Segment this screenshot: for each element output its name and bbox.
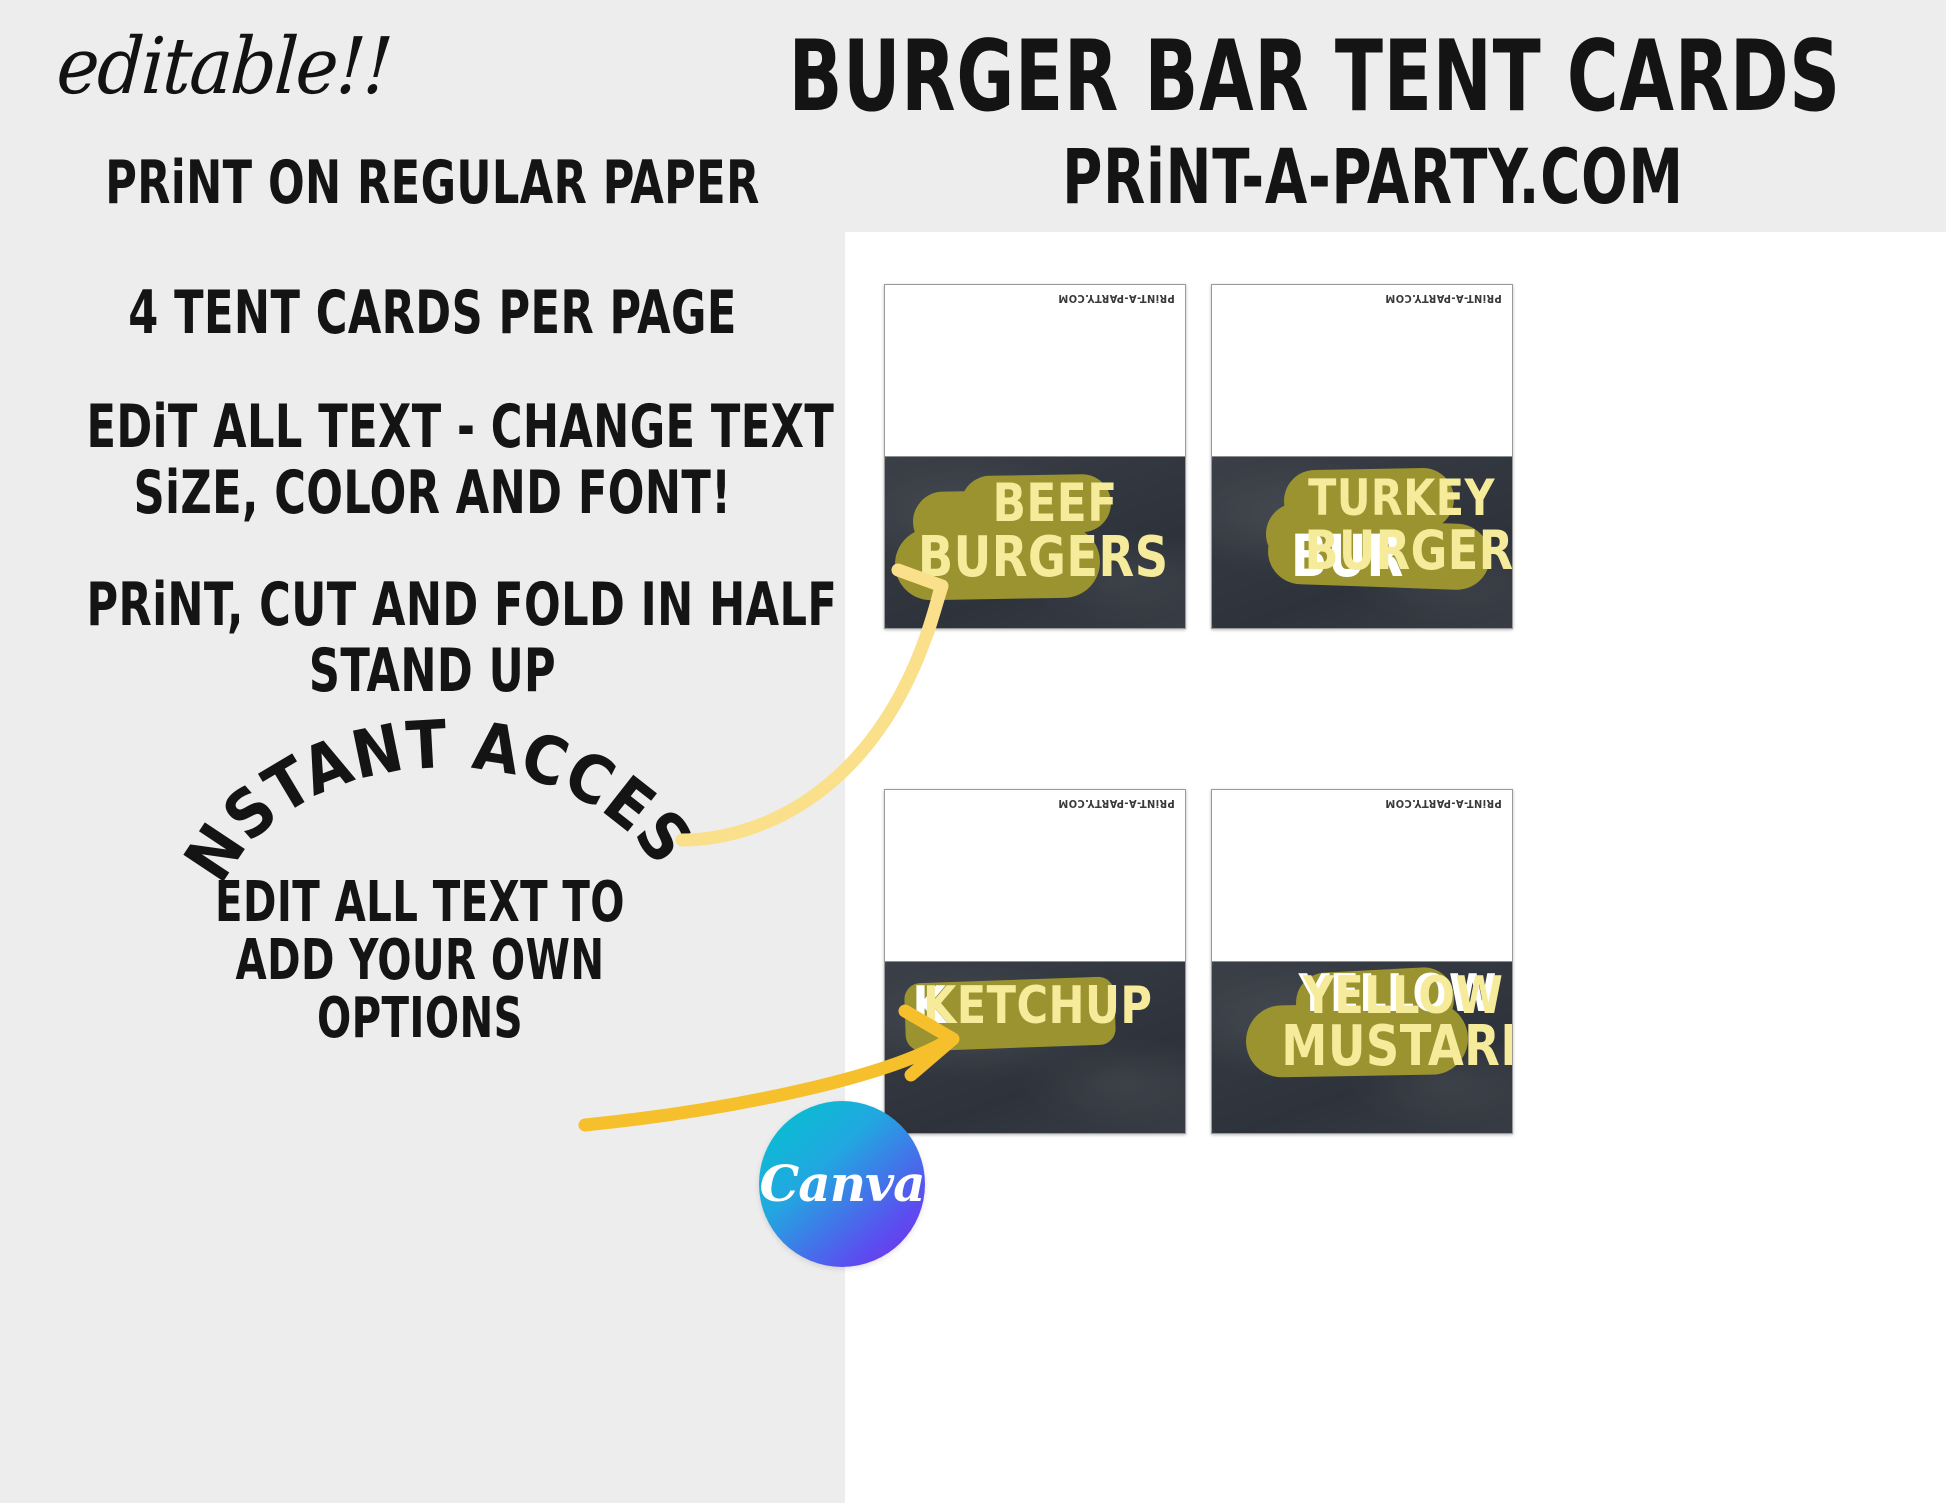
instant-access-label: iNSTANT ACCESS bbox=[170, 674, 706, 895]
card-watermark: PRiNT-A-PARTY.COM bbox=[1385, 797, 1502, 810]
card-top-half: PRiNT-A-PARTY.COM bbox=[1212, 790, 1512, 962]
feature-print-on-regular-paper: PRiNT ON REGULAR PAPER bbox=[87, 148, 779, 218]
canva-badge[interactable]: Canva bbox=[759, 1101, 925, 1267]
website-url: PRiNT-A-PARTY.COM bbox=[915, 132, 1832, 221]
instant-access-arch: iNSTANT ACCESS bbox=[215, 735, 675, 885]
svg-text:iNSTANT ACCESS: iNSTANT ACCESS bbox=[170, 674, 706, 895]
card-label-line2: BURGERS bbox=[1305, 525, 1513, 576]
tent-card-yellow-mustard[interactable]: PRiNT-A-PARTY.COM YELLOW YELLOW MUSTARD bbox=[1211, 789, 1513, 1134]
card-label-line1: BEEF bbox=[992, 479, 1117, 529]
editable-badge: editable!! bbox=[53, 22, 428, 132]
card-chalkboard-half: BUR TURKEY BURGERS bbox=[1212, 457, 1512, 629]
card-watermark: PRiNT-A-PARTY.COM bbox=[1385, 292, 1502, 305]
canva-label: Canva bbox=[760, 1154, 925, 1213]
instant-access-sub-line2: ADD YOUR OWN bbox=[84, 928, 756, 993]
page-title: BURGER BAR TENT CARDS bbox=[789, 20, 1818, 134]
feature-edit-all-text-line1: EDiT ALL TEXT - CHANGE TEXT bbox=[87, 392, 779, 462]
card-watermark: PRiNT-A-PARTY.COM bbox=[1058, 292, 1175, 305]
arrow-to-ketchup bbox=[575, 1005, 975, 1135]
feature-edit-all-text-line2: SiZE, COLOR AND FONT! bbox=[87, 458, 779, 528]
arrow-to-beef-burgers bbox=[640, 540, 1000, 860]
card-watermark: PRiNT-A-PARTY.COM bbox=[1058, 797, 1175, 810]
tent-card-turkey-burgers[interactable]: PRiNT-A-PARTY.COM BUR TURKEY BURGERS bbox=[1211, 284, 1513, 629]
card-chalkboard-half: YELLOW YELLOW MUSTARD bbox=[1212, 962, 1512, 1134]
feature-four-tent-cards-per-page: 4 TENT CARDS PER PAGE bbox=[87, 278, 779, 348]
card-top-half: PRiNT-A-PARTY.COM bbox=[1212, 285, 1512, 457]
card-label-line1: TURKEY bbox=[1308, 475, 1495, 523]
instant-access-sub-line1: EDIT ALL TEXT TO bbox=[84, 870, 756, 935]
card-top-half: PRiNT-A-PARTY.COM bbox=[885, 285, 1185, 457]
card-label-line2: MUSTARD bbox=[1281, 1020, 1513, 1073]
